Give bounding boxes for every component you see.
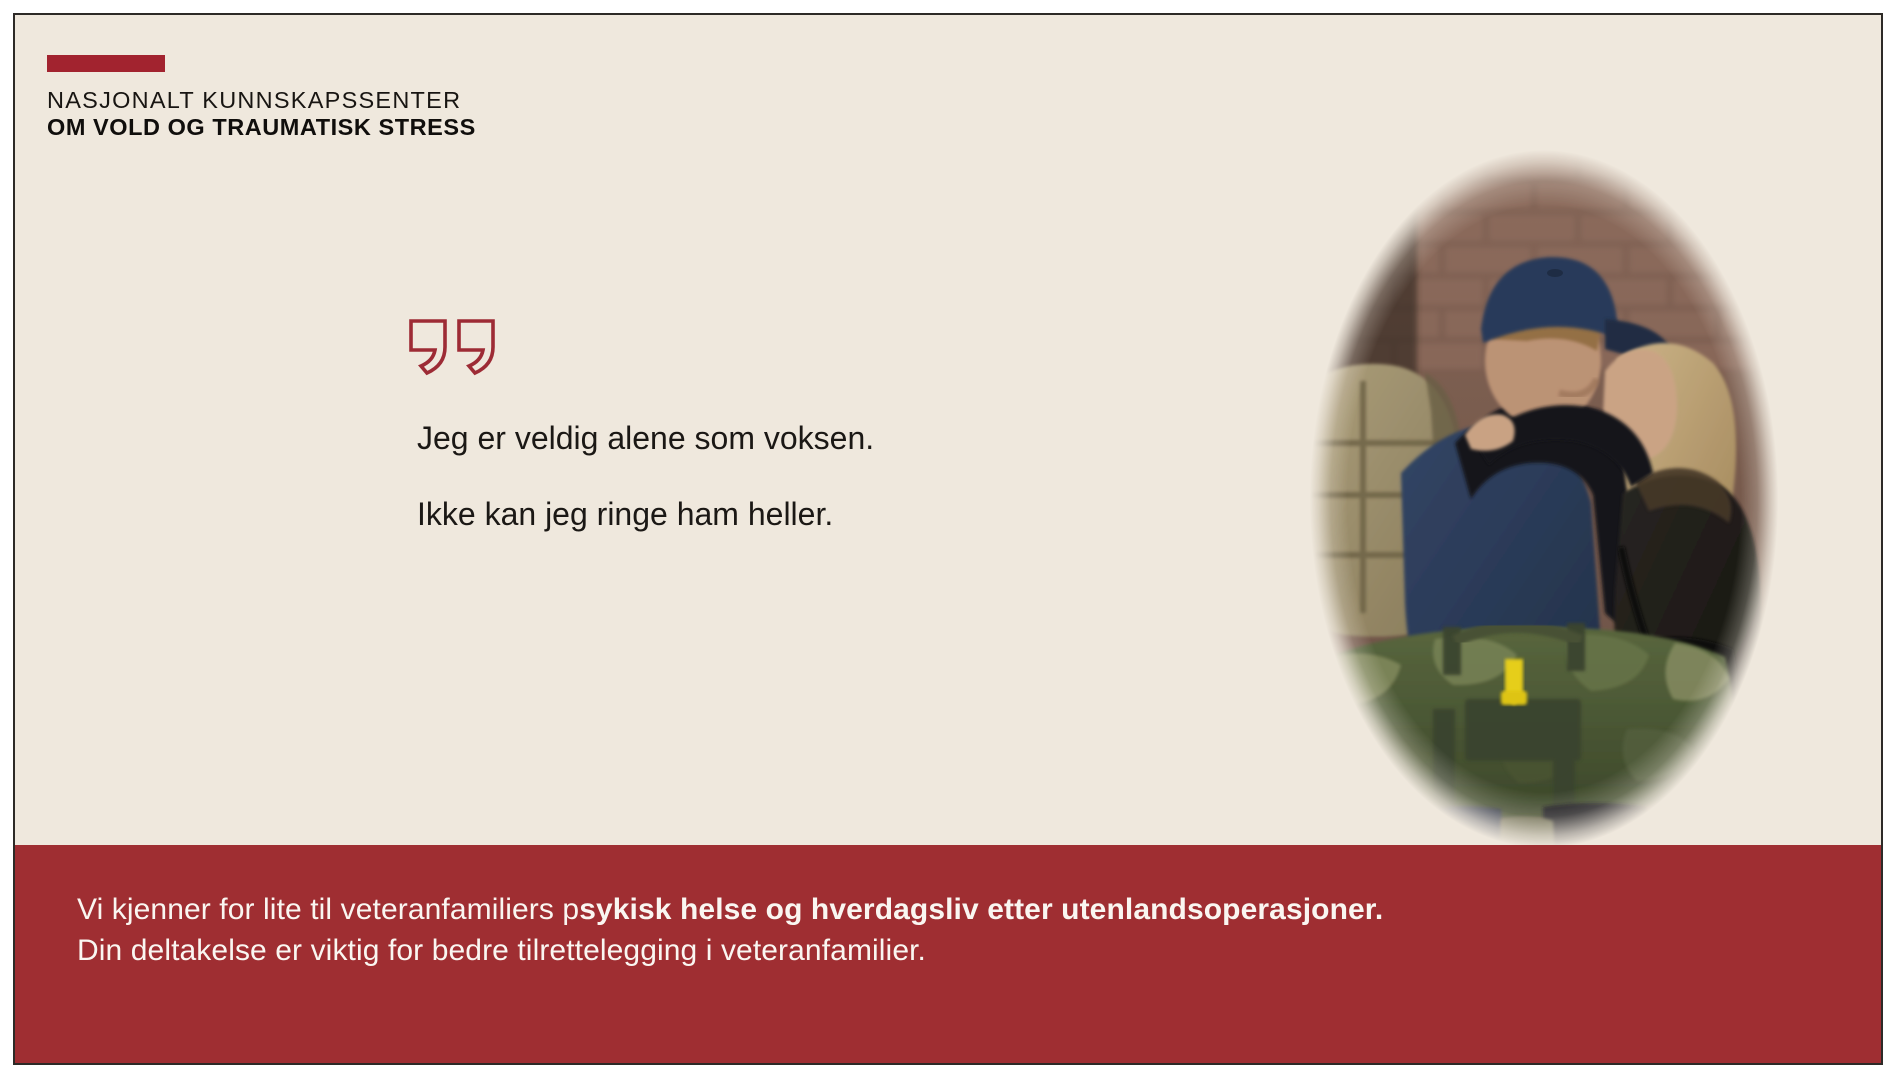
quote-line-2: Ikke kan jeg ringe ham heller. [417,495,1043,533]
slide-canvas: NASJONALT KUNNSKAPSSENTER OM VOLD OG TRA… [0,0,1896,1080]
presentation-slide: NASJONALT KUNNSKAPSSENTER OM VOLD OG TRA… [13,13,1883,1065]
quote-line-1: Jeg er veldig alene som voksen. [417,419,1043,457]
bottom-call-to-action-banner: Vi kjenner for lite til veteranfamiliers… [15,845,1881,1063]
banner-line-2: Din deltakelse er viktig for bedre tilre… [77,930,1841,971]
organization-logo: NASJONALT KUNNSKAPSSENTER OM VOLD OG TRA… [47,55,467,141]
photo-illustration [1305,143,1783,855]
logo-red-bar [47,55,165,72]
veteran-family-photo [1305,143,1783,855]
logo-line-1: NASJONALT KUNNSKAPSSENTER [47,88,467,113]
quote-lines: Jeg er veldig alene som voksen. Ikke kan… [417,419,1043,534]
quote-block: Jeg er veldig alene som voksen. Ikke kan… [403,317,1043,534]
logo-line-2: OM VOLD OG TRAUMATISK STRESS [47,114,467,140]
banner-line-1-bold: sykisk helse og hverdagsliv etter utenla… [579,893,1383,926]
quote-mark-icon [403,317,1043,377]
banner-text: Vi kjenner for lite til veteranfamiliers… [77,889,1841,972]
banner-line-1-regular: Vi kjenner for lite til veteranfamiliers… [77,893,579,926]
banner-line-1: Vi kjenner for lite til veteranfamiliers… [77,889,1841,930]
